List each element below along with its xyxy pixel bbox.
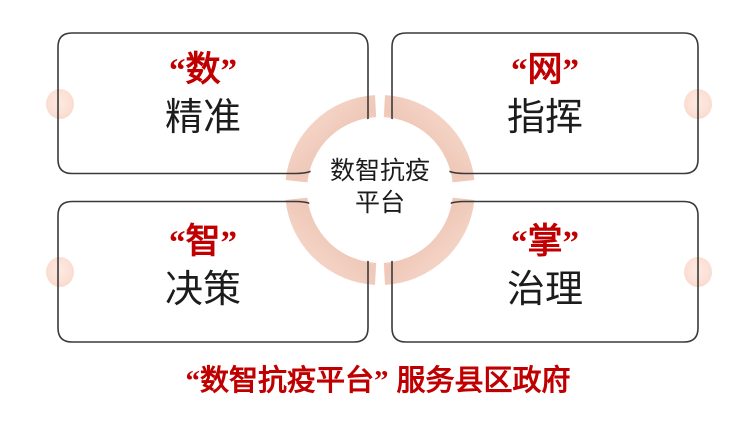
- caption-inner-text: 数智抗疫平台: [200, 365, 374, 397]
- ring-inner-disc: [308, 118, 452, 262]
- diagram-caption: “数智抗疫平台” 服务县区政府: [0, 357, 756, 399]
- decor-dot-left-top: [46, 89, 74, 119]
- caption-quote-open: “: [185, 365, 200, 397]
- diagram-canvas: 数智抗疫 平台 “数” 精准 “网” 指挥 “智” 决策 “掌” 治理 “数智抗…: [0, 0, 756, 431]
- decor-dot-left-bottom: [46, 257, 74, 287]
- caption-quote-close: ”: [374, 365, 389, 397]
- caption-tail-text: 服务县区政府: [388, 365, 570, 397]
